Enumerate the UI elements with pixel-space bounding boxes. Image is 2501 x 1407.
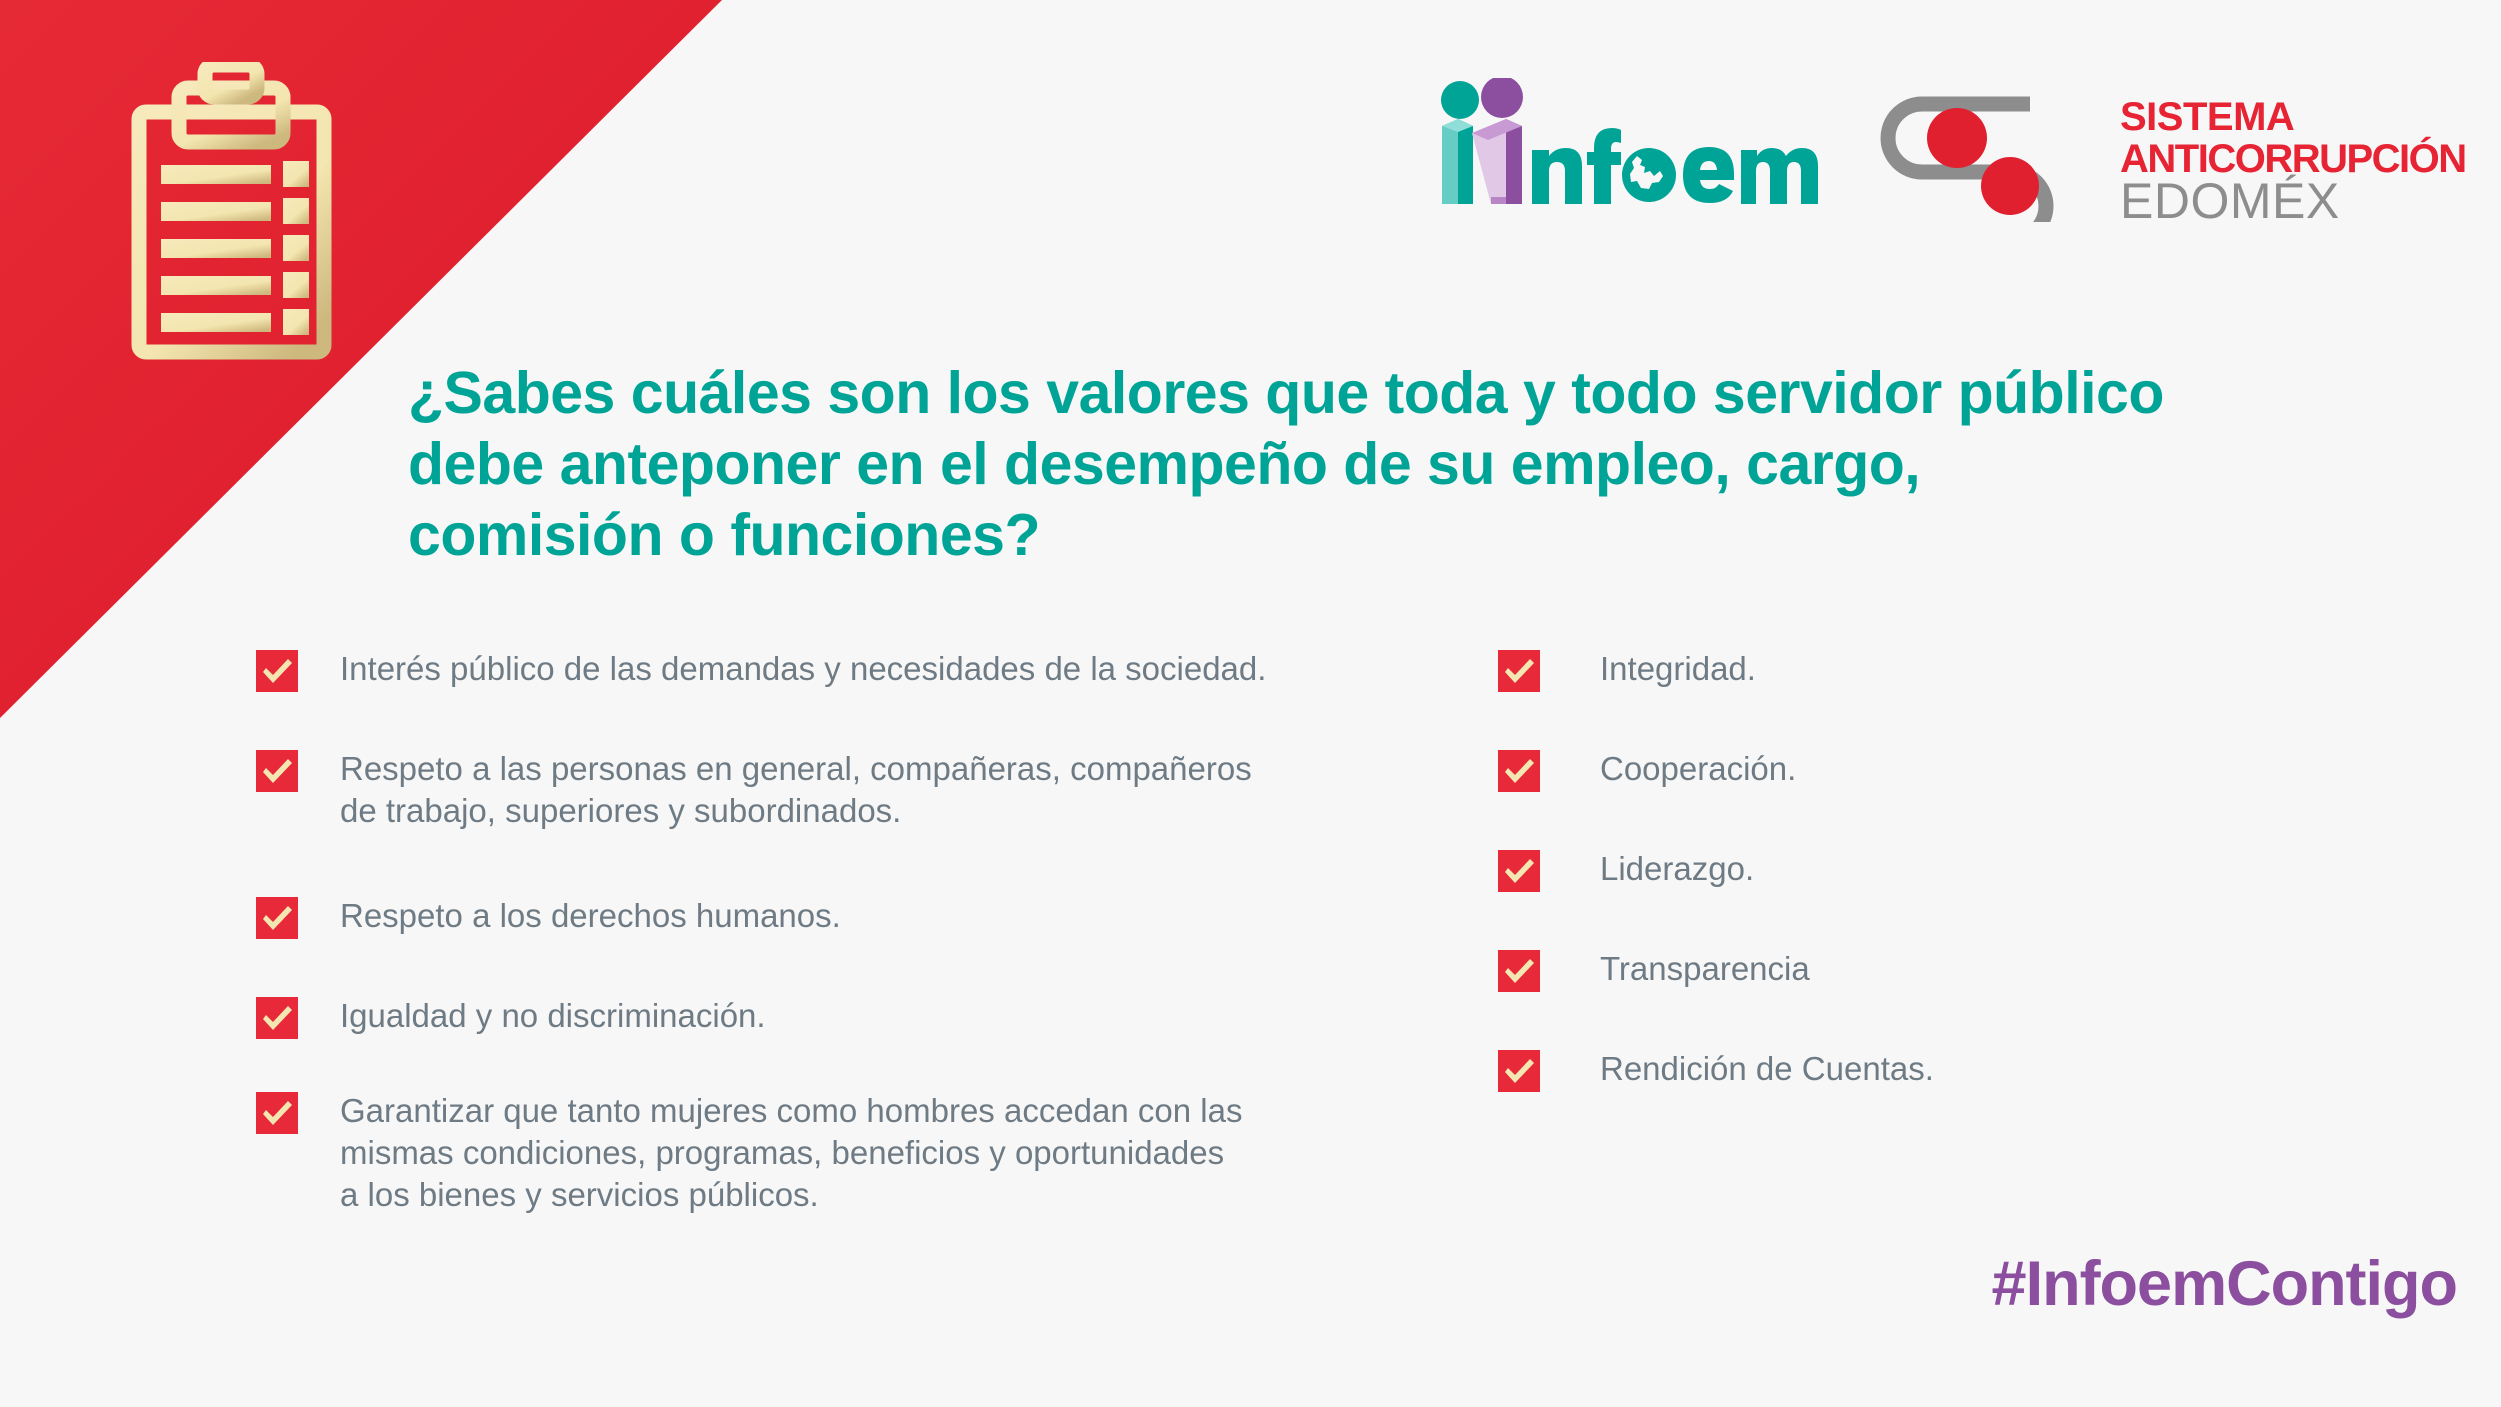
- clipboard-icon-shape: [128, 62, 408, 402]
- check-mark-icon: [1498, 950, 1540, 992]
- person-purple-icon: [1481, 78, 1523, 118]
- check-mark-icon: [256, 997, 298, 1039]
- checkbox-checked[interactable]: [256, 997, 298, 1039]
- check-mark-icon: [1498, 650, 1540, 692]
- checklist-item: Igualdad y no discriminación.: [256, 995, 766, 1039]
- page-title-line-3: comisión o funciones?: [408, 500, 2368, 571]
- check-mark-icon: [256, 897, 298, 939]
- checkbox-checked[interactable]: [1498, 650, 1540, 692]
- checklist-item: Rendición de Cuentas.: [1498, 1048, 1934, 1092]
- checklist-item: Transparencia: [1498, 948, 1810, 992]
- checklist-item: Interés público de las demandas y necesi…: [256, 648, 1266, 692]
- checklist-item-label: Rendición de Cuentas.: [1600, 1048, 1934, 1090]
- checkbox-checked[interactable]: [1498, 950, 1540, 992]
- checklist-item-label: Igualdad y no discriminación.: [340, 995, 766, 1037]
- checklist-item-label: Integridad.: [1600, 648, 1756, 690]
- checklist-item: Integridad.: [1498, 648, 1756, 692]
- checklist-item-label: Cooperación.: [1600, 748, 1796, 790]
- checklist-item: Respeto a los derechos humanos.: [256, 895, 841, 939]
- checkbox-checked[interactable]: [256, 1092, 298, 1134]
- sac-line3: EDOMÉX: [2120, 173, 2340, 222]
- sistema-anticorrupcion-logo: SISTEMA ANTICORRUPCIÓN EDOMÉX: [1862, 82, 2482, 222]
- page-title: ¿Sabes cuáles son los valores que toda y…: [408, 358, 2368, 571]
- checklist-item: Cooperación.: [1498, 748, 1796, 792]
- checkbox-checked[interactable]: [256, 897, 298, 939]
- page-title-line-2: debe anteponer en el desempeño de su emp…: [408, 429, 2368, 500]
- checkbox-checked[interactable]: [256, 750, 298, 792]
- person-teal-icon: [1441, 81, 1479, 119]
- check-mark-icon: [1498, 850, 1540, 892]
- checklist-item: Liderazgo.: [1498, 848, 1754, 892]
- checklist-item-label: Respeto a las personas en general, compa…: [340, 748, 1252, 832]
- hashtag-infoem-contigo: #InfoemContigo: [1992, 1248, 2457, 1320]
- check-mark-icon: [256, 1092, 298, 1134]
- sac-line1: SISTEMA: [2120, 95, 2294, 139]
- checkbox-checked[interactable]: [1498, 850, 1540, 892]
- checkbox-checked[interactable]: [1498, 1050, 1540, 1092]
- check-mark-icon: [256, 650, 298, 692]
- check-mark-icon: [256, 750, 298, 792]
- checklist-item: Garantizar que tanto mujeres como hombre…: [256, 1090, 1242, 1216]
- checklist-item-label: Garantizar que tanto mujeres como hombre…: [340, 1090, 1242, 1216]
- infoem-logo: [1428, 78, 1828, 208]
- check-mark-icon: [1498, 750, 1540, 792]
- checkbox-checked[interactable]: [256, 650, 298, 692]
- page-title-line-1: ¿Sabes cuáles son los valores que toda y…: [408, 358, 2368, 429]
- checkbox-checked[interactable]: [1498, 750, 1540, 792]
- checklist-item-label: Respeto a los derechos humanos.: [340, 895, 841, 937]
- check-mark-icon: [1498, 1050, 1540, 1092]
- checklist-item-label: Interés público de las demandas y necesi…: [340, 648, 1266, 690]
- sac-logo-shape: SISTEMA ANTICORRUPCIÓN EDOMÉX: [1862, 82, 2482, 222]
- clipboard-checklist-icon: [128, 62, 408, 402]
- checklist-item-label: Liderazgo.: [1600, 848, 1754, 890]
- checklist-item-label: Transparencia: [1600, 948, 1810, 990]
- checklist-item: Respeto a las personas en general, compa…: [256, 748, 1252, 832]
- infoem-logo-shape: [1428, 78, 1828, 208]
- s-loop-logo-icon: [1888, 104, 2046, 222]
